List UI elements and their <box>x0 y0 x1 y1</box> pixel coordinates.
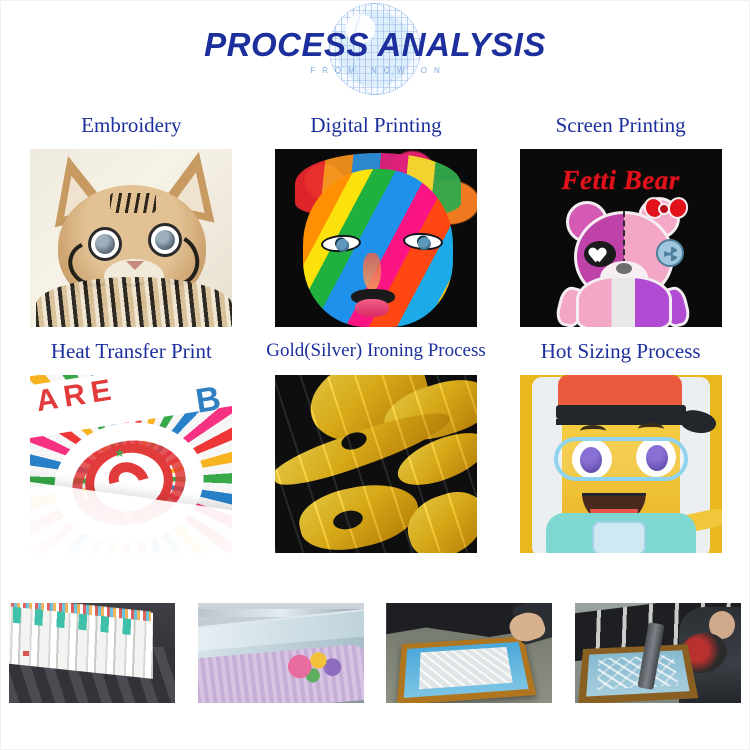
screen-printing-frame <box>397 636 537 703</box>
screen-mesh <box>404 642 529 698</box>
process-label-screen-printing: Screen Printing <box>552 101 690 149</box>
mascot-eyebrow-left <box>580 425 606 437</box>
process-grid: Embroidery <box>1 101 750 553</box>
floral-print-motif <box>286 648 349 688</box>
mascot-collar <box>592 521 646 553</box>
embroidered-cat-thumbnail[interactable] <box>30 149 232 327</box>
factory-photo-strip <box>1 603 749 703</box>
bear-body <box>576 275 672 327</box>
process-label-digital-printing: Digital Printing <box>306 101 445 149</box>
cat-chest-fur <box>36 277 232 327</box>
page-subtitle: FROM NOW ON <box>204 66 546 75</box>
page-header: PROCESS ANALYSIS FROM NOW ON <box>1 1 749 101</box>
fetti-bear-thumbnail[interactable]: Fetti Bear <box>520 149 722 327</box>
embroidery-machines-photo[interactable] <box>9 603 175 703</box>
process-label-hot-sizing: Hot Sizing Process <box>537 327 705 375</box>
cat-nose-icon <box>126 261 144 270</box>
process-cell-hot-sizing: Hot Sizing Process <box>498 327 743 553</box>
process-label-gold-ironing: Gold(Silver) Ironing Process <box>262 327 490 375</box>
screen-frame-photo[interactable] <box>386 603 552 703</box>
process-cell-screen-printing: Screen Printing Fetti Bear <box>498 101 743 327</box>
process-cell-embroidery: Embroidery <box>9 101 254 327</box>
process-label-embroidery: Embroidery <box>77 101 185 149</box>
process-row-1: Embroidery <box>9 101 743 327</box>
process-analysis-page: PROCESS ANALYSIS FROM NOW ON Embroidery <box>0 0 750 750</box>
screen-stencil-artwork <box>420 647 513 689</box>
face-nose <box>363 253 381 291</box>
mascot-cap-icon <box>558 375 682 409</box>
pop-art-face-thumbnail[interactable] <box>275 149 477 327</box>
heat-star-icon: ★ <box>114 447 125 459</box>
process-cell-digital-printing: Digital Printing <box>254 101 499 327</box>
mascot-goggles-icon <box>554 437 688 481</box>
process-cell-heat-transfer: Heat Transfer Print ★ ★ ★ ★ ARE B <box>9 327 254 553</box>
page-title: PROCESS ANALYSIS <box>204 28 546 61</box>
mascot-sticker-thumbnail[interactable] <box>520 375 722 553</box>
squeegee-printing-photo[interactable] <box>575 603 741 703</box>
machine-indicator-light <box>23 651 29 656</box>
screen-printing-frame <box>578 644 698 703</box>
process-row-2: Heat Transfer Print ★ ★ ★ ★ ARE B <box>9 327 743 553</box>
process-label-heat-transfer: Heat Transfer Print <box>47 327 216 375</box>
gold-foil-thumbnail[interactable] <box>275 375 477 553</box>
mascot-headband-second <box>556 419 686 425</box>
mascot-headband <box>556 405 686 419</box>
printing-table-photo[interactable] <box>198 603 364 703</box>
face-lower-lip <box>355 299 389 317</box>
heat-transfer-thumbnail[interactable]: ★ ★ ★ ★ ARE B <box>30 375 232 553</box>
cat-forehead-stripes <box>110 193 156 213</box>
bear-button-eye-icon <box>656 239 684 267</box>
fetti-bear-artwork-text: Fetti Bear <box>520 165 722 196</box>
process-cell-gold-ironing: Gold(Silver) Ironing Process <box>254 327 499 553</box>
mascot-eyebrow-right <box>638 423 664 435</box>
title-block: PROCESS ANALYSIS FROM NOW ON <box>204 28 546 75</box>
